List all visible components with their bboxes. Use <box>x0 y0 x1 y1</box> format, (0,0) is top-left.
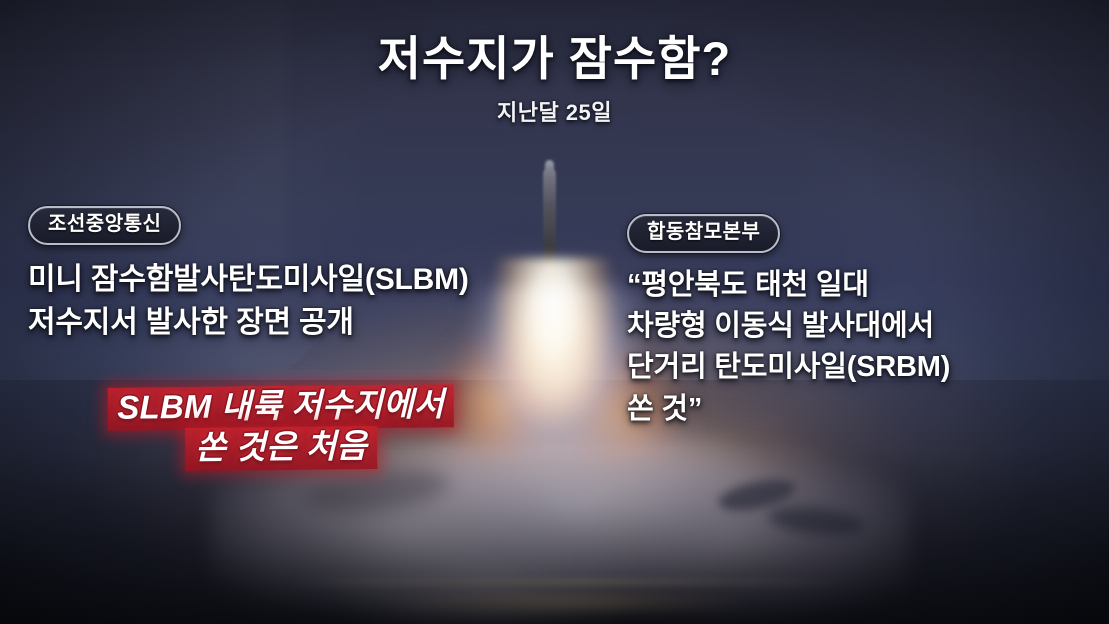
waterline-glow <box>330 588 800 618</box>
emphasis-line-1: SLBM 내륙 저수지에서 <box>107 384 454 431</box>
left-badge-row: 조선중앙통신 <box>28 206 588 245</box>
source-badge-kcna: 조선중앙통신 <box>28 206 181 245</box>
right-badge-row: 합동참모본부 <box>627 214 1097 253</box>
right-source-column: 합동참모본부 “평안북도 태천 일대 차량형 이동식 발사대에서 단거리 탄도미… <box>627 214 1097 430</box>
emphasis-banner: SLBM 내륙 저수지에서 쏜 것은 처음 <box>46 384 517 473</box>
left-quote-line-1: 미니 잠수함발사탄도미사일(SLBM) <box>28 259 588 302</box>
emphasis-line-2: 쏜 것은 처음 <box>185 426 377 471</box>
waterline-streak <box>290 578 850 586</box>
right-quote-line-2: 차량형 이동식 발사대에서 <box>627 306 1097 347</box>
source-badge-jcs: 합동참모본부 <box>627 214 780 253</box>
headline-block: 저수지가 잠수함? 지난달 25일 <box>0 34 1109 127</box>
right-quote-line-3: 단거리 탄도미사일(SRBM) <box>627 347 1097 388</box>
right-quote-line-1: “평안북도 태천 일대 <box>627 265 1097 306</box>
left-source-column: 조선중앙통신 미니 잠수함발사탄도미사일(SLBM) 저수지서 발사한 장면 공… <box>28 206 588 344</box>
page-title: 저수지가 잠수함? <box>0 34 1109 85</box>
broadcast-frame: 저수지가 잠수함? 지난달 25일 조선중앙통신 미니 잠수함발사탄도미사일(S… <box>0 0 1109 624</box>
headline-date: 지난달 25일 <box>0 95 1109 127</box>
left-quote-line-2: 저수지서 발사한 장면 공개 <box>28 302 588 345</box>
right-quote-line-4: 쏜 것” <box>627 389 1097 430</box>
